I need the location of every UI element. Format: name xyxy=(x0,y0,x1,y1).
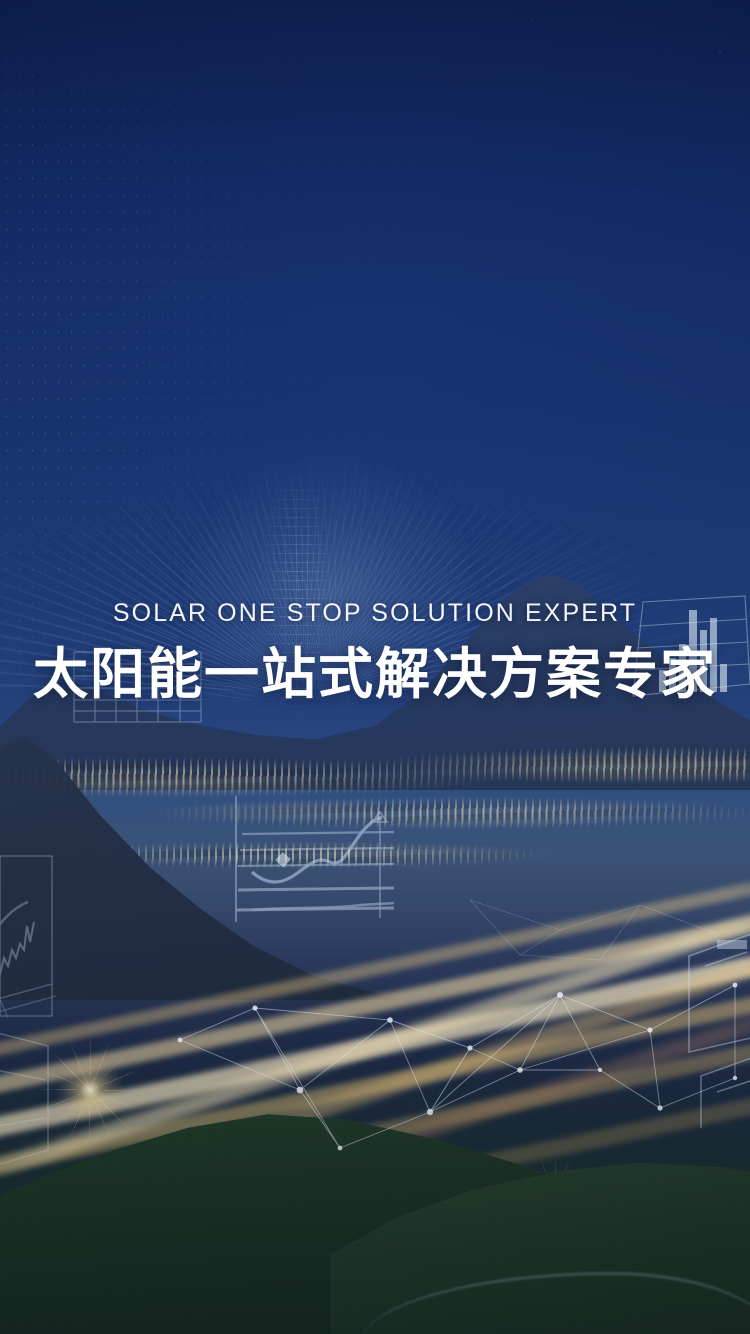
hero-copy-block: SOLAR ONE STOP SOLUTION EXPERT 太阳能一站式解决方… xyxy=(0,598,750,744)
light-burst-icon xyxy=(30,1030,150,1150)
hero-headline: 太阳能一站式解决方案专家 xyxy=(0,642,750,707)
hero-banner: SOLAR ONE STOP SOLUTION EXPERT 太阳能一站式解决方… xyxy=(0,0,750,1334)
hero-eyebrow: SOLAR ONE STOP SOLUTION EXPERT xyxy=(0,598,750,628)
